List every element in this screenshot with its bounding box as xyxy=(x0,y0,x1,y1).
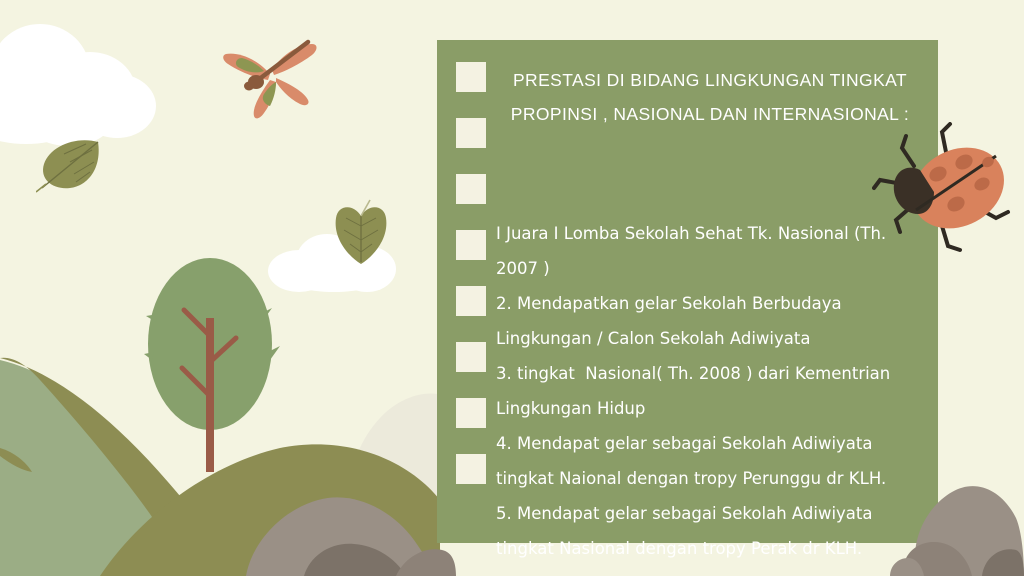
dragonfly-icon xyxy=(212,30,324,122)
rock-illustration xyxy=(890,462,1024,576)
tree-illustration xyxy=(140,256,290,476)
list-item: 5. Mendapat gelar sebagai Sekolah Adiwiy… xyxy=(496,496,926,531)
list-item: Lingkungan Hidup xyxy=(496,391,926,426)
bullet-marker xyxy=(456,118,486,148)
bullet-marker xyxy=(456,286,486,316)
list-item: 2007 ) xyxy=(496,251,926,286)
slide-title: PRESTASI DI BIDANG LINGKUNGAN TINGKAT PR… xyxy=(495,63,925,131)
list-item: I Juara I Lomba Sekolah Sehat Tk. Nasion… xyxy=(496,216,926,251)
ladybug-icon xyxy=(872,122,1022,258)
bullet-marker xyxy=(456,230,486,260)
list-item: tingkat Naional dengan tropy Perunggu dr… xyxy=(496,461,926,496)
list-item: 3. tingkat Nasional( Th. 2008 ) dari Kem… xyxy=(496,356,926,391)
bullet-marker xyxy=(456,174,486,204)
list-item: tingkat Nasional dengan tropy Perak dr K… xyxy=(496,531,926,566)
list-item: 2. Mendapatkan gelar Sekolah Berbudaya xyxy=(496,286,926,321)
cloud-illustration xyxy=(0,22,158,142)
bullet-marker xyxy=(456,398,486,428)
list-item: 4. Mendapat gelar sebagai Sekolah Adiwiy… xyxy=(496,426,926,461)
bullet-marker xyxy=(456,342,486,372)
bullet-marker xyxy=(456,454,486,484)
content-card: PRESTASI DI BIDANG LINGKUNGAN TINGKAT PR… xyxy=(437,40,938,543)
achievement-list: I Juara I Lomba Sekolah Sehat Tk. Nasion… xyxy=(496,216,926,566)
leaf-icon xyxy=(330,196,392,268)
list-item: Lingkungan / Calon Sekolah Adiwiyata xyxy=(496,321,926,356)
rock-illustration xyxy=(246,476,456,576)
bullet-marker-list xyxy=(456,62,490,510)
bullet-marker xyxy=(456,62,486,92)
leaf-icon xyxy=(36,136,108,198)
slide-canvas: PRESTASI DI BIDANG LINGKUNGAN TINGKAT PR… xyxy=(0,0,1024,576)
